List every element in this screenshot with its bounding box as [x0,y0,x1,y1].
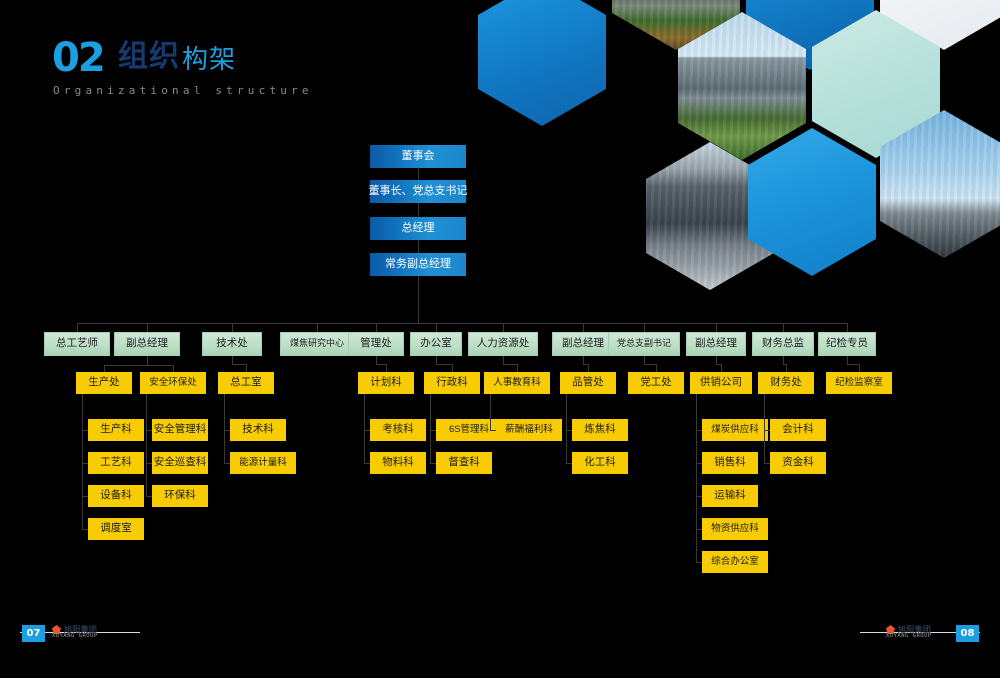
node-hr-dept[interactable]: 人力资源处 [468,332,538,356]
connector-child-stub-0 [490,430,496,431]
node-col-technology-head[interactable]: 总工室 [218,372,274,394]
node-col-quality-child-0[interactable]: 炼焦科 [572,419,628,441]
node-col-production-child-2[interactable]: 设备科 [88,485,144,507]
node-col-supply-child-2[interactable]: 运输科 [702,485,758,507]
connector-dept-drop [847,356,848,364]
connector-department-bus [77,323,847,324]
slide-canvas: 02 组织 构架 Organizational structure 董事会董事长… [0,0,1000,660]
connector-col-stem [859,364,860,372]
connector-dept-drop [232,356,233,364]
connector-col-stem-1 [173,365,174,372]
connector-column-spine [82,394,83,529]
node-discipline-officer[interactable]: 纪检专员 [818,332,876,356]
node-col-quality-head[interactable]: 品管处 [560,372,616,394]
node-col-production-head[interactable]: 生产处 [76,372,132,394]
node-col-safety-env-head[interactable]: 安全环保处 [140,372,206,394]
connector-child-stub-3 [82,529,88,530]
connector-child-stub-1 [364,463,370,464]
node-management-dept[interactable]: 管理处 [348,332,404,356]
node-col-production-child-3[interactable]: 调度室 [88,518,144,540]
node-col-production-child-1[interactable]: 工艺科 [88,452,144,474]
page-footer: 07 旭阳集团 XUYANG GROUP 旭阳集团 XUYANG GROUP 0… [0,614,1000,678]
connector-top-2 [418,240,419,253]
node-col-finance-child-1[interactable]: 资金科 [770,452,826,474]
connector-department-stem-7 [583,323,584,332]
node-col-technology-child-1[interactable]: 能源计量科 [230,452,296,474]
connector-dept-drop [436,356,437,364]
slide-page: 02 组织 构架 Organizational structure 董事会董事长… [0,0,1000,678]
org-chart: 董事会董事长、党总支书记总经理常务副总经理总工艺师副总经理技术处煤焦研究中心管理… [0,0,1000,660]
connector-child-stub-1 [224,463,230,464]
connector-child-stub-1 [764,463,770,464]
connector-trunk-vertical [418,276,419,323]
node-col-management-child-0[interactable]: 考核科 [370,419,426,441]
node-col-supply-child-1[interactable]: 销售科 [702,452,758,474]
connector-child-stub-1 [566,463,572,464]
connector-column-spine [566,394,567,463]
connector-dept-drop [644,356,645,364]
connector-column-spine [490,394,491,430]
connector-department-stem-5 [436,323,437,332]
node-general-manager[interactable]: 总经理 [370,217,466,240]
connector-dept-drop [503,356,504,364]
connector-top-1 [418,203,419,217]
connector-department-stem-0 [77,323,78,332]
connector-dept-drop [783,356,784,364]
node-chairman[interactable]: 董事长、党总支书记 [370,180,466,203]
connector-col-stem [517,364,518,372]
node-chief-craftsman[interactable]: 总工艺师 [44,332,110,356]
node-cfo[interactable]: 财务总监 [752,332,814,356]
connector-dept-drop [583,356,584,364]
node-technology-dept[interactable]: 技术处 [202,332,262,356]
node-deputy-gm-production[interactable]: 副总经理 [114,332,180,356]
connector-column-spine [224,394,225,463]
connector-dept-split [104,365,173,366]
brand-name-en: XUYANG GROUP [52,633,98,639]
connector-department-stem-3 [317,323,318,332]
connector-col-stem [386,364,387,372]
connector-child-stub-1 [430,463,436,464]
connector-column-spine [696,394,697,562]
connector-col-stem [656,364,657,372]
node-exec-deputy-gm[interactable]: 常务副总经理 [370,253,466,276]
brand-name-en-right: XUYANG GROUP [886,633,932,639]
connector-department-stem-1 [147,323,148,332]
connector-dept-jog [503,364,517,365]
node-col-supply-child-0[interactable]: 煤炭供应科 [702,419,768,441]
node-col-technology-child-0[interactable]: 技术科 [230,419,286,441]
page-number-right: 08 [956,625,979,642]
connector-dept-drop [376,356,377,364]
node-col-finance-child-0[interactable]: 会计科 [770,419,826,441]
node-col-supply-child-4[interactable]: 综合办公室 [702,551,768,573]
connector-dept-jog [376,364,386,365]
node-col-supply-head[interactable]: 供销公司 [690,372,752,394]
connector-col-stem [246,364,247,372]
node-col-safety-env-child-1[interactable]: 安全巡查科 [152,452,208,474]
page-number-left: 07 [22,625,45,642]
node-col-discipline-head[interactable]: 纪检监察室 [826,372,892,394]
connector-col-stem [721,364,722,372]
node-office[interactable]: 办公室 [410,332,462,356]
connector-column-spine [146,394,147,496]
connector-col-stem [452,364,453,372]
node-col-hr-head[interactable]: 人事教育科 [484,372,550,394]
node-col-management-child-1[interactable]: 物料科 [370,452,426,474]
connector-department-stem-8 [644,323,645,332]
connector-dept-jog [232,364,246,365]
node-col-office-child-1[interactable]: 督查科 [436,452,492,474]
brand-logo-right: 旭阳集团 XUYANG GROUP [886,624,964,642]
connector-dept-jog [644,364,656,365]
node-col-production-child-0[interactable]: 生产科 [88,419,144,441]
node-deputy-gm-quality[interactable]: 副总经理 [552,332,614,356]
connector-dept-jog [436,364,452,365]
connector-dept-drop [147,356,148,365]
connector-child-stub-2 [146,496,152,497]
node-deputy-gm-supply[interactable]: 副总经理 [686,332,746,356]
node-col-finance-head[interactable]: 财务处 [758,372,814,394]
connector-dept-jog [847,364,859,365]
node-party-deputy-secretary[interactable]: 党总支副书记 [608,332,680,356]
node-col-safety-env-child-0[interactable]: 安全管理科 [152,419,208,441]
connector-col-stem [588,364,589,372]
connector-department-stem-4 [376,323,377,332]
node-col-safety-env-child-2[interactable]: 环保科 [152,485,208,507]
connector-department-stem-6 [503,323,504,332]
connector-child-stub-4 [696,562,702,563]
node-col-supply-child-3[interactable]: 物资供应科 [702,518,768,540]
connector-top-0 [418,168,419,180]
node-coal-coking-research[interactable]: 煤焦研究中心 [280,332,354,356]
connector-column-spine [764,394,765,463]
node-col-party-head[interactable]: 党工处 [628,372,684,394]
connector-department-stem-10 [783,323,784,332]
node-col-office-head[interactable]: 行政科 [424,372,480,394]
connector-col-stem [786,364,787,372]
connector-col-stem-0 [104,365,105,372]
connector-department-stem-9 [716,323,717,332]
connector-column-spine [364,394,365,463]
connector-department-stem-11 [847,323,848,332]
node-col-management-head[interactable]: 计划科 [358,372,414,394]
brand-logo-left: 旭阳集团 XUYANG GROUP [52,624,130,642]
node-board[interactable]: 董事会 [370,145,466,168]
connector-department-stem-2 [232,323,233,332]
connector-dept-drop [716,356,717,364]
node-col-hr-child-0[interactable]: 薪酬福利科 [496,419,562,441]
connector-column-spine [430,394,431,463]
node-col-quality-child-1[interactable]: 化工科 [572,452,628,474]
